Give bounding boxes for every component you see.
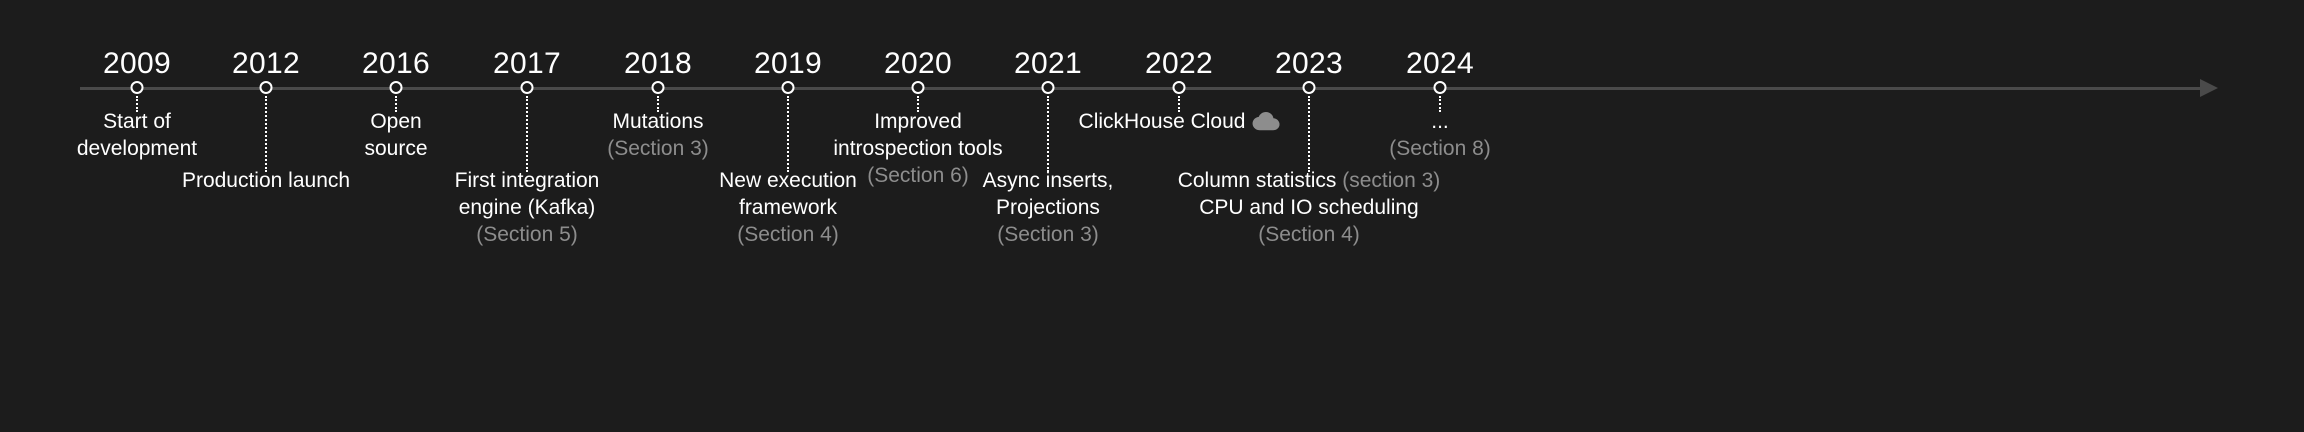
year-label-2016: 2016 xyxy=(362,47,430,81)
event-label-text: Column statistics xyxy=(1178,169,1337,192)
event-section-ref: (Section 3) xyxy=(607,135,709,162)
event-label-text: development xyxy=(77,137,197,160)
timeline-connector-2019 xyxy=(787,96,789,172)
timeline-node-circle-2017 xyxy=(521,81,534,94)
event-label-text: Start of xyxy=(103,110,171,133)
event-label-text: CPU and IO scheduling xyxy=(1199,196,1418,219)
event-section-ref: (Section 6) xyxy=(833,162,1002,189)
year-label-2021: 2021 xyxy=(1014,47,1082,81)
event-label-line: Improved xyxy=(833,108,1002,135)
timeline-connector-2023 xyxy=(1308,96,1310,172)
event-label-text: Async inserts, xyxy=(983,169,1114,192)
timeline-node-circle-2020 xyxy=(912,81,925,94)
event-label-2009: Start ofdevelopment xyxy=(77,108,197,162)
event-section-ref: (Section 8) xyxy=(1389,135,1491,162)
cloud-icon xyxy=(1252,111,1279,138)
event-label-text: Open xyxy=(370,110,421,133)
event-label-line: ... xyxy=(1389,108,1491,135)
event-section-ref: (Section 3) xyxy=(983,221,1114,248)
timeline-connector-2012 xyxy=(265,96,267,172)
event-label-2017: First integrationengine (Kafka)(Section … xyxy=(455,167,600,248)
event-label-line: source xyxy=(364,135,427,162)
year-label-2018: 2018 xyxy=(624,47,692,81)
event-label-2024: ...(Section 8) xyxy=(1389,108,1491,162)
event-section-ref: (Section 4) xyxy=(719,221,857,248)
year-label-2017: 2017 xyxy=(493,47,561,81)
event-section-ref: (Section 4) xyxy=(1178,221,1441,248)
event-label-line: Open xyxy=(364,108,427,135)
event-label-text: ClickHouse Cloud xyxy=(1079,110,1246,133)
event-label-text: ... xyxy=(1431,110,1449,133)
event-label-2021: Async inserts,Projections(Section 3) xyxy=(983,167,1114,248)
event-label-line: First integration xyxy=(455,167,600,194)
event-label-line: ClickHouse Cloud xyxy=(1079,108,1280,138)
timeline-node-circle-2023 xyxy=(1303,81,1316,94)
timeline-connector-2017 xyxy=(526,96,528,172)
year-label-2022: 2022 xyxy=(1145,47,1213,81)
timeline-node-circle-2018 xyxy=(652,81,665,94)
event-label-text: Mutations xyxy=(612,110,703,133)
event-label-2012: Production launch xyxy=(182,167,350,194)
event-label-line: engine (Kafka) xyxy=(455,194,600,221)
event-label-text: source xyxy=(364,137,427,160)
event-section-ref: (Section 5) xyxy=(455,221,600,248)
event-label-text: Improved xyxy=(874,110,962,133)
event-label-2022: ClickHouse Cloud xyxy=(1079,108,1280,138)
timeline-node-circle-2009 xyxy=(131,81,144,94)
event-label-line: Async inserts, xyxy=(983,167,1114,194)
year-label-2009: 2009 xyxy=(103,47,171,81)
timeline-axis-arrow-icon xyxy=(2200,79,2218,97)
timeline-node-circle-2022 xyxy=(1173,81,1186,94)
event-label-line: CPU and IO scheduling xyxy=(1178,194,1441,221)
timeline-node-circle-2019 xyxy=(782,81,795,94)
timeline-node-circle-2021 xyxy=(1042,81,1055,94)
year-label-2012: 2012 xyxy=(232,47,300,81)
timeline-chart: 2009Start ofdevelopment2012Production la… xyxy=(0,0,2304,432)
year-label-2024: 2024 xyxy=(1406,47,1474,81)
year-label-2019: 2019 xyxy=(754,47,822,81)
event-label-2020: Improvedintrospection tools(Section 6) xyxy=(833,108,1002,189)
event-label-2016: Opensource xyxy=(364,108,427,162)
timeline-node-circle-2016 xyxy=(390,81,403,94)
timeline-node-circle-2012 xyxy=(260,81,273,94)
event-label-text: First integration xyxy=(455,169,600,192)
year-label-2020: 2020 xyxy=(884,47,952,81)
timeline-connector-2021 xyxy=(1047,96,1049,172)
event-label-text: introspection tools xyxy=(833,137,1002,160)
event-label-text: Production launch xyxy=(182,169,350,192)
event-label-text: framework xyxy=(739,196,837,219)
event-label-line: introspection tools xyxy=(833,135,1002,162)
event-label-text: engine (Kafka) xyxy=(459,196,596,219)
year-label-2023: 2023 xyxy=(1275,47,1343,81)
event-label-2018: Mutations(Section 3) xyxy=(607,108,709,162)
event-label-text: Projections xyxy=(996,196,1100,219)
event-label-line: Production launch xyxy=(182,167,350,194)
event-label-line: development xyxy=(77,135,197,162)
event-label-line: framework xyxy=(719,194,857,221)
event-label-line: Start of xyxy=(77,108,197,135)
event-label-line: Projections xyxy=(983,194,1114,221)
timeline-node-circle-2024 xyxy=(1434,81,1447,94)
event-section-ref-inline: (section 3) xyxy=(1342,169,1440,192)
event-label-line: Column statistics (section 3) xyxy=(1178,167,1441,194)
event-label-line: Mutations xyxy=(607,108,709,135)
event-label-2023: Column statistics (section 3)CPU and IO … xyxy=(1178,167,1441,248)
